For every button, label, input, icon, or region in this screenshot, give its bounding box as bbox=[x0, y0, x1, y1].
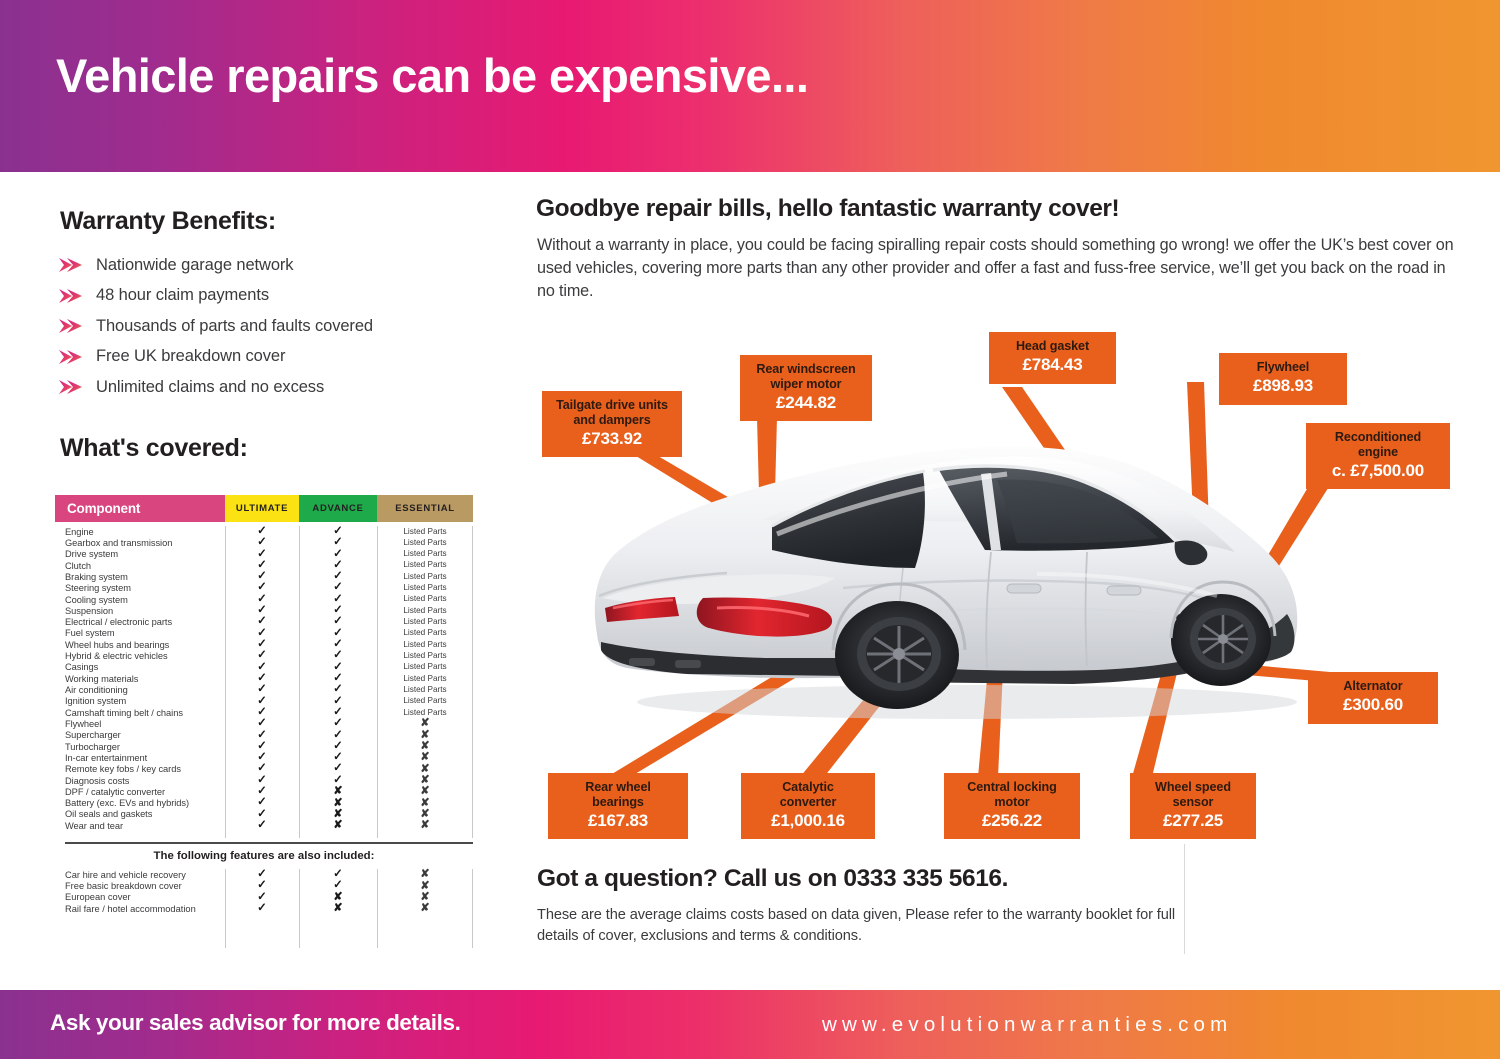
benefit-item-1: 48 hour claim payments bbox=[58, 281, 498, 312]
cell-component: Engine bbox=[55, 527, 225, 537]
cell-essential: Listed Parts bbox=[377, 607, 473, 615]
callout-price: £1,000.16 bbox=[753, 812, 863, 831]
cell-component: European cover bbox=[55, 892, 225, 902]
cell-component: Camshaft timing belt / chains bbox=[55, 708, 225, 718]
cell-component: Wheel hubs and bearings bbox=[55, 640, 225, 650]
callout-price: c. £7,500.00 bbox=[1318, 462, 1438, 481]
table-row: Air conditioning✓✓Listed Parts bbox=[55, 684, 473, 695]
chevron-right-icon bbox=[58, 349, 84, 365]
cell-component: Rail fare / hotel accommodation bbox=[55, 904, 225, 914]
cell-advance: ✓ bbox=[299, 718, 377, 730]
cell-essential: Listed Parts bbox=[377, 561, 473, 569]
cell-component: Working materials bbox=[55, 674, 225, 684]
cell-component: Remote key fobs / key cards bbox=[55, 764, 225, 774]
callout-price: £256.22 bbox=[956, 812, 1068, 831]
benefit-label: 48 hour claim payments bbox=[96, 286, 269, 305]
cell-ultimate: ✓ bbox=[225, 820, 299, 832]
cell-advance: ✓ bbox=[299, 537, 377, 549]
section-divider-line bbox=[65, 842, 473, 844]
warranty-benefits-list: Nationwide garage network48 hour claim p… bbox=[58, 250, 498, 403]
cell-ultimate: ✓ bbox=[225, 537, 299, 549]
footer-website-url[interactable]: www.evolutionwarranties.com bbox=[822, 1013, 1232, 1037]
cell-essential: Listed Parts bbox=[377, 595, 473, 603]
callout-central-locking-motor[interactable]: Central locking motor £256.22 bbox=[944, 773, 1080, 839]
cell-component: Wear and tear bbox=[55, 821, 225, 831]
benefit-label: Thousands of parts and faults covered bbox=[96, 317, 373, 336]
callout-label: Rear windscreen wiper motor bbox=[752, 362, 860, 392]
callout-reconditioned-engine[interactable]: Reconditioned engine c. £7,500.00 bbox=[1306, 423, 1450, 489]
column-header-essential: ESSENTIAL bbox=[377, 495, 473, 522]
cell-essential: ✘ bbox=[377, 786, 473, 797]
cell-component: Supercharger bbox=[55, 730, 225, 740]
cell-component: DPF / catalytic converter bbox=[55, 787, 225, 797]
extras-row: Rail fare / hotel accommodation✓✘✘ bbox=[55, 903, 473, 914]
cell-essential: Listed Parts bbox=[377, 709, 473, 717]
table-row: Wear and tear✓✘✘ bbox=[55, 820, 473, 831]
cell-component: Ignition system bbox=[55, 696, 225, 706]
table-row: Flywheel✓✓✘ bbox=[55, 718, 473, 729]
callout-flywheel[interactable]: Flywheel £898.93 bbox=[1219, 353, 1347, 405]
coverage-table-header-row: Component ULTIMATE ADVANCE ESSENTIAL bbox=[55, 495, 473, 522]
cell-component: Hybrid & electric vehicles bbox=[55, 651, 225, 661]
callout-label: Alternator bbox=[1320, 679, 1426, 694]
column-header-component: Component bbox=[55, 495, 225, 522]
cell-component: In-car entertainment bbox=[55, 753, 225, 763]
extras-rows: Car hire and vehicle recovery✓✓✘Free bas… bbox=[55, 869, 473, 915]
callout-label: Flywheel bbox=[1231, 360, 1335, 375]
coverage-table: Component ULTIMATE ADVANCE ESSENTIAL Eng… bbox=[55, 495, 473, 948]
column-header-advance: ADVANCE bbox=[299, 495, 377, 522]
callout-label: Catalytic converter bbox=[753, 780, 863, 810]
callout-price: £167.83 bbox=[560, 812, 676, 831]
cell-essential: Listed Parts bbox=[377, 675, 473, 683]
callout-label: Central locking motor bbox=[956, 780, 1068, 810]
cell-essential: Listed Parts bbox=[377, 663, 473, 671]
cell-essential: Listed Parts bbox=[377, 641, 473, 649]
left-column: Warranty Benefits: Nationwide garage net… bbox=[0, 172, 512, 987]
cell-component: Turbocharger bbox=[55, 742, 225, 752]
chevron-right-icon bbox=[58, 318, 84, 334]
cell-component: Suspension bbox=[55, 606, 225, 616]
callout-price: £784.43 bbox=[1001, 356, 1104, 375]
table-row: Gearbox and transmission✓✓Listed Parts bbox=[55, 537, 473, 548]
cell-advance: ✘ bbox=[299, 820, 377, 831]
cell-component: Car hire and vehicle recovery bbox=[55, 870, 225, 880]
benefit-label: Free UK breakdown cover bbox=[96, 347, 285, 366]
page-footer-banner: Ask your sales advisor for more details.… bbox=[0, 990, 1500, 1059]
cell-essential: Listed Parts bbox=[377, 539, 473, 547]
cell-essential: ✘ bbox=[377, 903, 473, 914]
cell-component: Clutch bbox=[55, 561, 225, 571]
cell-component: Braking system bbox=[55, 572, 225, 582]
main-body-text: Without a warranty in place, you could b… bbox=[537, 234, 1467, 303]
right-column: Goodbye repair bills, hello fantastic wa… bbox=[512, 172, 1500, 987]
cell-essential: ✘ bbox=[377, 798, 473, 809]
whats-covered-heading: What's covered: bbox=[60, 434, 248, 463]
warranty-benefits-heading: Warranty Benefits: bbox=[60, 207, 276, 236]
cell-component: Gearbox and transmission bbox=[55, 538, 225, 548]
cell-component: Battery (exc. EVs and hybrids) bbox=[55, 798, 225, 808]
callout-price: £277.25 bbox=[1142, 812, 1244, 831]
cell-essential: Listed Parts bbox=[377, 584, 473, 592]
coverage-rows: Engine✓✓Listed PartsGearbox and transmis… bbox=[55, 526, 473, 831]
cell-essential: Listed Parts bbox=[377, 550, 473, 558]
chevron-right-icon bbox=[58, 288, 84, 304]
cell-essential: Listed Parts bbox=[377, 697, 473, 705]
cell-essential: ✘ bbox=[377, 752, 473, 763]
chevron-right-icon bbox=[58, 257, 84, 273]
cell-advance: ✘ bbox=[299, 903, 377, 914]
callout-label: Wheel speed sensor bbox=[1142, 780, 1244, 810]
callout-tailgate[interactable]: Tailgate drive units and dampers £733.92 bbox=[542, 391, 682, 457]
callout-catalytic-converter[interactable]: Catalytic converter £1,000.16 bbox=[741, 773, 875, 839]
cell-component: Free basic breakdown cover bbox=[55, 881, 225, 891]
cell-ultimate: ✓ bbox=[225, 903, 299, 915]
benefit-item-0: Nationwide garage network bbox=[58, 250, 498, 281]
callout-price: £733.92 bbox=[554, 430, 670, 449]
callout-wiper-motor[interactable]: Rear windscreen wiper motor £244.82 bbox=[740, 355, 872, 421]
cell-component: Flywheel bbox=[55, 719, 225, 729]
callout-label: Tailgate drive units and dampers bbox=[554, 398, 670, 428]
benefit-label: Nationwide garage network bbox=[96, 256, 293, 275]
cell-essential: ✘ bbox=[377, 892, 473, 903]
cell-component: Drive system bbox=[55, 549, 225, 559]
main-heading: Goodbye repair bills, hello fantastic wa… bbox=[536, 195, 1119, 223]
callout-wheel-speed-sensor[interactable]: Wheel speed sensor £277.25 bbox=[1130, 773, 1256, 839]
cell-component: Electrical / electronic parts bbox=[55, 617, 225, 627]
cell-essential: ✘ bbox=[377, 881, 473, 892]
cell-essential: ✘ bbox=[377, 820, 473, 831]
benefit-label: Unlimited claims and no excess bbox=[96, 378, 324, 397]
cell-essential: Listed Parts bbox=[377, 686, 473, 694]
cell-advance: ✘ bbox=[299, 798, 377, 809]
chevron-right-icon bbox=[58, 379, 84, 395]
cell-component: Fuel system bbox=[55, 628, 225, 638]
cell-essential: Listed Parts bbox=[377, 573, 473, 581]
callout-price: £898.93 bbox=[1231, 377, 1335, 396]
cell-component: Oil seals and gaskets bbox=[55, 809, 225, 819]
cell-ultimate: ✓ bbox=[225, 718, 299, 730]
cell-essential: Listed Parts bbox=[377, 652, 473, 660]
benefit-item-2: Thousands of parts and faults covered bbox=[58, 311, 498, 342]
callout-head-gasket[interactable]: Head gasket £784.43 bbox=[989, 332, 1116, 384]
call-to-action-text: Got a question? Call us on 0333 335 5616… bbox=[537, 865, 1008, 893]
cell-essential: Listed Parts bbox=[377, 629, 473, 637]
extras-heading: The following features are also included… bbox=[55, 850, 473, 862]
cell-essential: ✘ bbox=[377, 869, 473, 880]
callout-price: £244.82 bbox=[752, 394, 860, 413]
column-header-ultimate: ULTIMATE bbox=[225, 495, 299, 522]
page-title: Vehicle repairs can be expensive... bbox=[56, 48, 808, 103]
coverage-table-body: Engine✓✓Listed PartsGearbox and transmis… bbox=[55, 524, 473, 840]
cell-component: Diagnosis costs bbox=[55, 776, 225, 786]
vehicle-cost-diagram: Tailgate drive units and dampers £733.92… bbox=[512, 327, 1500, 842]
cell-advance: ✘ bbox=[299, 786, 377, 797]
disclaimer-text: These are the average claims costs based… bbox=[537, 905, 1217, 947]
callout-price: £300.60 bbox=[1320, 696, 1426, 715]
callout-label: Head gasket bbox=[1001, 339, 1104, 354]
cell-essential: Listed Parts bbox=[377, 618, 473, 626]
page-header-banner: Vehicle repairs can be expensive... bbox=[0, 0, 1500, 172]
extras-table-body: Car hire and vehicle recovery✓✓✘Free bas… bbox=[55, 869, 473, 948]
cell-essential: Listed Parts bbox=[377, 528, 473, 536]
callout-alternator[interactable]: Alternator £300.60 bbox=[1308, 672, 1438, 724]
cell-essential: ✘ bbox=[377, 718, 473, 729]
cell-component: Casings bbox=[55, 662, 225, 672]
cell-advance: ✘ bbox=[299, 892, 377, 903]
cell-component: Cooling system bbox=[55, 595, 225, 605]
callout-label: Reconditioned engine bbox=[1318, 430, 1438, 460]
callout-rear-wheel-bearings[interactable]: Rear wheel bearings £167.83 bbox=[548, 773, 688, 839]
benefit-item-4: Unlimited claims and no excess bbox=[58, 372, 498, 403]
callout-label: Rear wheel bearings bbox=[560, 780, 676, 810]
footer-message: Ask your sales advisor for more details. bbox=[50, 1010, 460, 1036]
benefit-item-3: Free UK breakdown cover bbox=[58, 342, 498, 373]
cell-component: Steering system bbox=[55, 583, 225, 593]
cell-component: Air conditioning bbox=[55, 685, 225, 695]
